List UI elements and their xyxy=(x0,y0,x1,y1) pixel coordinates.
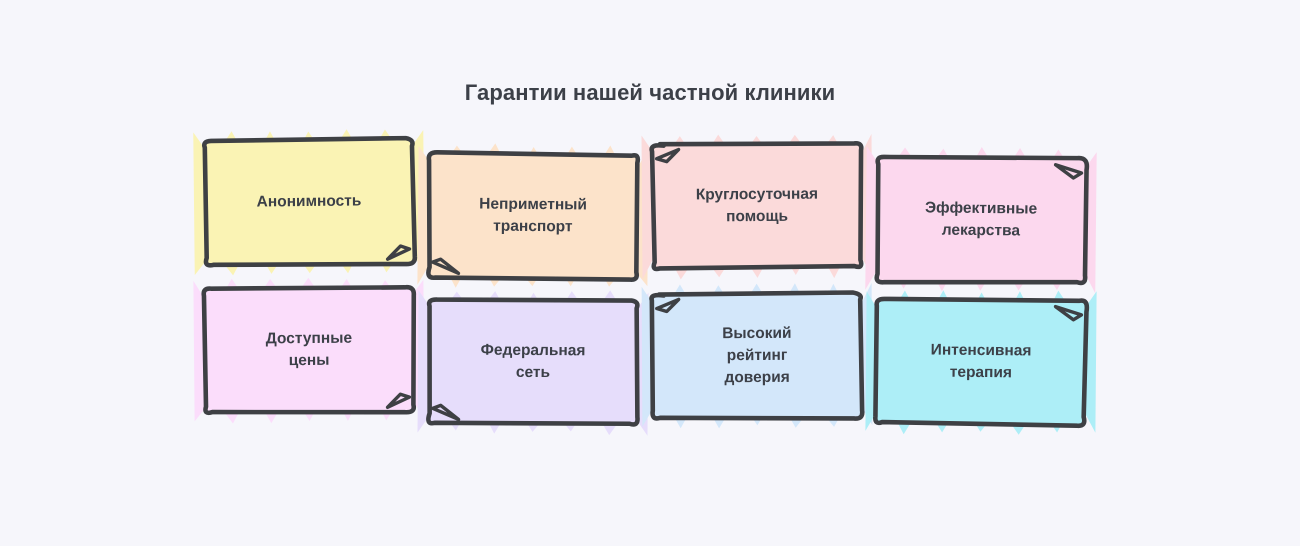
guarantee-card-label: Анонимность xyxy=(205,190,413,214)
guarantee-card[interactable]: Эффективные лекарства xyxy=(876,157,1085,283)
guarantee-card[interactable]: Доступные цены xyxy=(204,287,413,413)
infographic-canvas: Гарантии нашей частной клиники Анонимнос… xyxy=(0,0,1300,546)
guarantee-card-label: Высокий рейтинг доверия xyxy=(653,322,861,389)
guarantee-card-label: Интенсивная терапия xyxy=(877,339,1085,385)
guarantee-card-label: Федеральная сеть xyxy=(429,339,637,384)
guarantee-card[interactable]: Интенсивная терапия xyxy=(876,299,1085,425)
guarantee-card-label: Эффективные лекарства xyxy=(877,197,1085,243)
guarantee-card[interactable]: Высокий рейтинг доверия xyxy=(653,293,862,418)
guarantee-card[interactable]: Анонимность xyxy=(204,139,413,265)
guarantee-card[interactable]: Круглосуточная помощь xyxy=(653,143,862,268)
guarantee-card-label: Круглосуточная помощь xyxy=(653,183,861,228)
page-title: Гарантии нашей частной клиники xyxy=(0,80,1300,106)
guarantee-card-label: Доступные цены xyxy=(205,327,413,373)
guarantee-card[interactable]: Неприметный транспорт xyxy=(428,153,637,279)
guarantee-card-label: Неприметный транспорт xyxy=(429,193,637,239)
guarantees-card-grid: АнонимностьНеприметный транспортКруглосу… xyxy=(205,140,1105,430)
guarantee-card[interactable]: Федеральная сеть xyxy=(429,299,638,424)
